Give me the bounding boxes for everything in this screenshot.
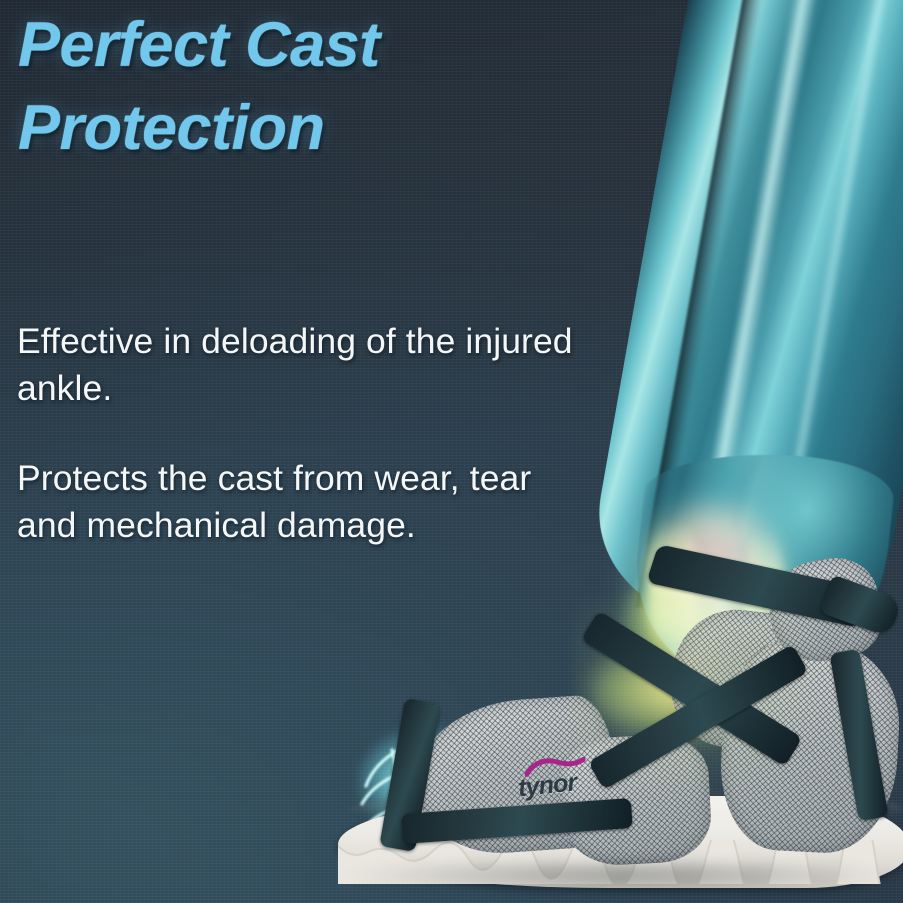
benefit-text-1: Effective in deloading of the injured an…	[17, 318, 657, 412]
benefit-text-2: Protects the cast from wear, tear and me…	[17, 455, 657, 549]
brand-logo: tynor	[507, 751, 613, 819]
promo-image: tynor Perfect Cast Protection Effective …	[0, 0, 903, 903]
page-title: Perfect Cast Protection	[18, 4, 538, 170]
ground-shadow	[340, 862, 903, 896]
brand-name: tynor	[517, 768, 578, 803]
